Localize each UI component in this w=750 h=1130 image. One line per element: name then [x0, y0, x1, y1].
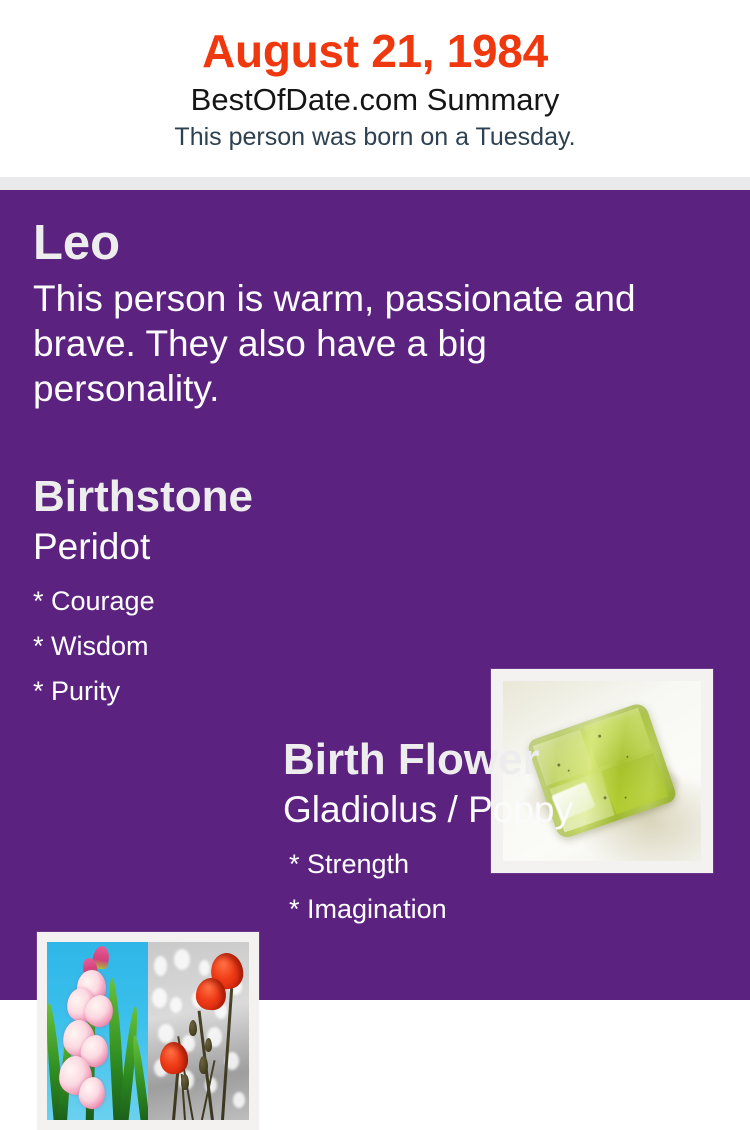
- birthstone-section: Birthstone Peridot * Courage * Wisdom * …: [33, 472, 463, 714]
- list-item: * Purity: [33, 669, 463, 714]
- poppy-pod: [205, 1038, 212, 1052]
- bokeh-dot: [233, 1092, 245, 1108]
- birthstone-trait-list: * Courage * Wisdom * Purity: [33, 579, 463, 714]
- page-header: August 21, 1984 BestOfDate.com Summary T…: [0, 0, 750, 177]
- bokeh-dot: [199, 960, 210, 976]
- zodiac-section: Leo This person is warm, passionate and …: [33, 216, 693, 411]
- birthstone-name: Peridot: [33, 524, 463, 569]
- list-item: * Strength: [289, 842, 723, 887]
- birth-flower-title: Birth Flower: [283, 735, 723, 785]
- bokeh-dot: [152, 988, 167, 1008]
- site-summary-label: BestOfDate.com Summary: [0, 80, 750, 120]
- birth-flower-image: [47, 942, 249, 1120]
- birth-weekday-note: This person was born on a Tuesday.: [0, 120, 750, 154]
- summary-panel: Leo This person is warm, passionate and …: [0, 190, 750, 1000]
- zodiac-sign-name: Leo: [33, 216, 693, 270]
- poppy-pod: [199, 1056, 208, 1074]
- birth-flower-image-frame: [37, 932, 259, 1130]
- bokeh-dot: [158, 1024, 174, 1044]
- birthstone-title: Birthstone: [33, 472, 463, 522]
- poppy-pod: [189, 1020, 197, 1036]
- poppy-photo-half: [148, 942, 249, 1120]
- list-item: * Imagination: [289, 887, 723, 932]
- list-item: * Wisdom: [33, 624, 463, 669]
- bokeh-dot: [154, 956, 167, 976]
- gladiolus-photo-half: [47, 942, 148, 1120]
- list-item: * Courage: [33, 579, 463, 624]
- birth-flower-section: Birth Flower Gladiolus / Poppy * Strengt…: [283, 735, 723, 932]
- header-divider: [0, 177, 750, 190]
- birth-flower-trait-list: * Strength * Imagination: [283, 842, 723, 932]
- page-title-date: August 21, 1984: [0, 24, 750, 78]
- zodiac-description: This person is warm, passionate and brav…: [33, 276, 683, 411]
- gladiolus-poppy-icon: [47, 942, 249, 1120]
- birth-flower-name: Gladiolus / Poppy: [283, 787, 723, 832]
- bokeh-dot: [174, 949, 190, 970]
